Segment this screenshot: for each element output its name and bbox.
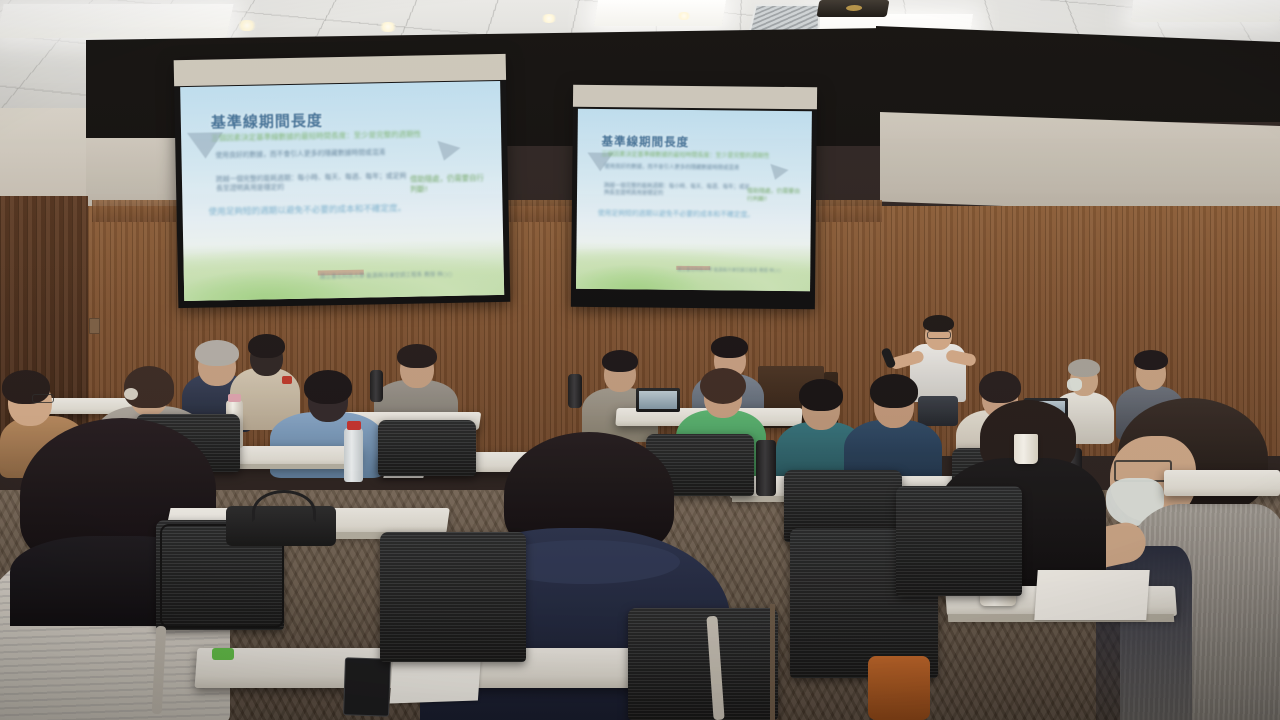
desk-front-far-right[interactable] <box>1164 470 1280 496</box>
face-mask <box>1067 378 1082 391</box>
wall-power-outlet <box>89 318 100 334</box>
right-slide-bullet-1: 使用良好的數據，而不會引人更多的隱藏數據時間或混淆 <box>604 164 750 173</box>
recessed-downlight <box>540 14 558 23</box>
left-slide-highlight: 使用足夠短的週期以避免不必要的成本和不確定度。 <box>208 203 448 219</box>
beige-upper-wall-right <box>880 112 1280 216</box>
left-slide-bullet-2: 跨越一個完整的能耗週期：每小時、每天、每週、每年；或足夠長至證明真用是穩定的 <box>216 172 412 194</box>
ceiling-light-panel <box>0 4 234 38</box>
paper-cup-mid-right <box>1014 434 1038 464</box>
chair-front-center[interactable] <box>380 532 526 662</box>
chair-pole-right <box>770 604 775 720</box>
recessed-downlight <box>676 12 692 20</box>
attendee-hair <box>397 344 437 368</box>
attendee-hair <box>1068 359 1100 377</box>
water-bottle-red-cap <box>344 428 363 482</box>
hair-tie <box>124 388 138 400</box>
attendee-hair-curly <box>700 368 746 404</box>
bottle-cap <box>347 421 361 430</box>
attendee-hair-bun <box>124 366 174 408</box>
projector-lens-icon <box>846 5 863 11</box>
presenter-hair <box>923 315 954 332</box>
laptop-screen <box>639 391 677 409</box>
recessed-downlight <box>236 20 258 31</box>
ceiling-light-panel <box>1131 0 1280 22</box>
ceiling-mounted-projector <box>817 0 890 17</box>
black-tumbler-back <box>568 374 582 408</box>
attendee-hair <box>799 379 843 411</box>
smartphone-on-desk[interactable] <box>343 657 391 717</box>
attendee-grey-vest-mask <box>1078 398 1280 720</box>
left-slide-bullet-1: 使用良好的數據，而不會引人更多的隱藏數據時間或混淆 <box>215 148 411 161</box>
left-slide-callout: 借助隨處，仍需要自行判斷! <box>410 173 486 194</box>
right-slide-callout: 借助隨處，仍需要自行判斷! <box>747 189 805 206</box>
paper-notebook-front-right[interactable] <box>1034 570 1149 620</box>
attendee-hair <box>248 334 285 358</box>
left-slide-surface: 基準線期間長度 三個因素決定基準線數據的最短時間長度：至少是完整的週期性 使用良… <box>180 81 504 301</box>
right-slide-surface: 基準線期間長度 三個因素決定基準線數據的最短時間長度：至少是完整的週期性 使用良… <box>576 109 812 291</box>
laptop-back-center[interactable] <box>636 388 680 412</box>
right-slide-highlight: 使用足夠短的週期以避免不必要的成本和不確定度。 <box>598 209 778 220</box>
dark-recessed-soffit-right <box>876 26 1280 122</box>
black-tumbler-mid <box>756 440 776 496</box>
attendee-hair <box>979 371 1021 403</box>
right-slide-title: 基準線期間長度 <box>601 133 689 150</box>
attendee-hair <box>1134 350 1168 370</box>
green-item-on-desk <box>212 648 234 660</box>
left-projection-screen[interactable]: 基準線期間長度 三個因素決定基準線數據的最短時間長度：至少是完整的週期性 使用良… <box>174 54 511 308</box>
attendee-hair <box>304 370 352 404</box>
slide-triangle-right <box>766 164 789 183</box>
right-slide-subtitle: 三個因素決定基準線數據的最短時間長度：至少是完整的週期性 <box>601 149 769 160</box>
screen-top-valance <box>573 85 817 110</box>
recessed-downlight <box>378 22 398 32</box>
slide-triangle-right <box>433 141 461 164</box>
lecture-hall-photo: 基準線期間長度 三個因素決定基準線數據的最短時間長度：至少是完整的週期性 使用良… <box>0 0 1280 720</box>
bottle-cap <box>228 394 241 402</box>
attendee-hair <box>870 374 918 408</box>
ceiling-light-panel <box>594 0 726 26</box>
chair-front-edge-left[interactable] <box>628 608 778 720</box>
attendee-hair <box>711 336 748 358</box>
right-projection-screen[interactable]: 基準線期間長度 三個因素決定基準線數據的最短時間長度：至少是完整的週期性 使用良… <box>571 85 817 310</box>
orange-bag-under-desk <box>868 656 930 720</box>
presenter-glasses-icon <box>927 331 951 339</box>
right-slide-bullet-2: 跨越一個完整的能耗週期：每小時、每天、每週、每年；或足夠長至證明真用是穩定的 <box>604 183 750 199</box>
attendee-hair <box>602 350 638 372</box>
air-conditioning-vent <box>748 4 820 32</box>
chair-front-far-right[interactable] <box>896 486 1022 596</box>
left-slide-title: 基準線期間長度 <box>211 109 323 132</box>
right-slide-footer: 國立臺北科技大學 能源與冷凍空調工程系 教授 林○○ <box>677 267 781 274</box>
attendee-glasses-icon <box>32 394 54 403</box>
